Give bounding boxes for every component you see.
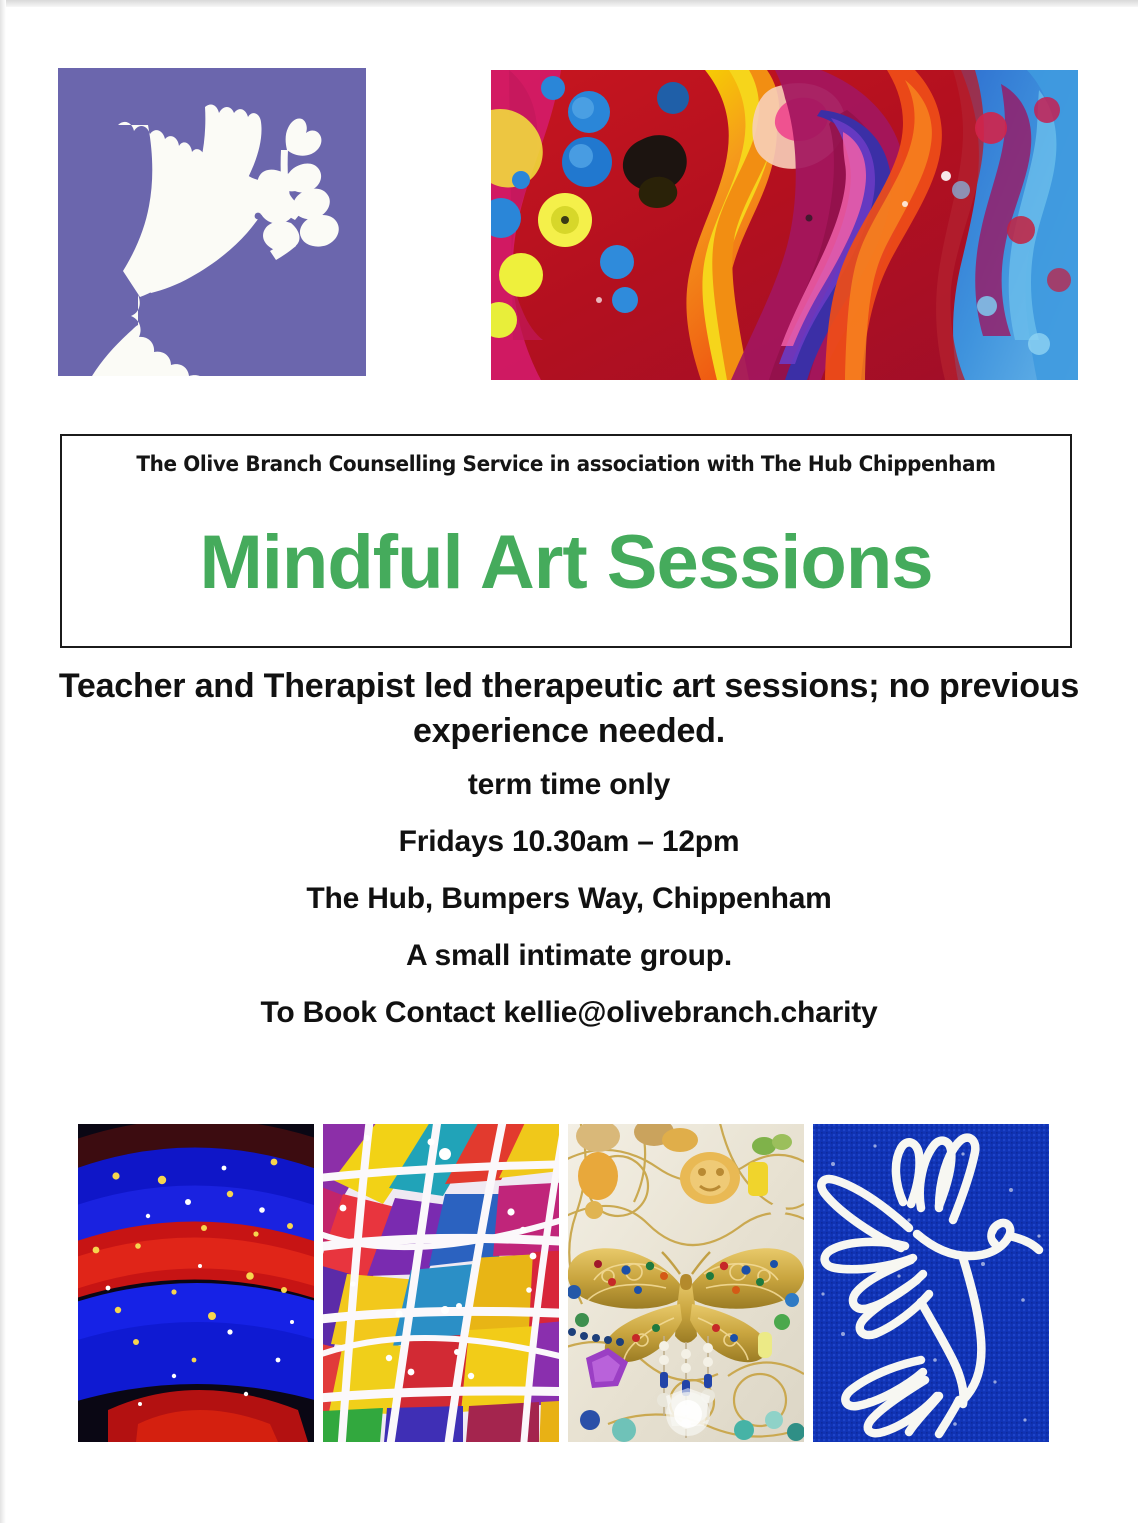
body-line-term-time: term time only — [10, 766, 1128, 804]
gold-filigree-butterfly — [568, 1124, 804, 1442]
association-line: The Olive Branch Counselling Service in … — [97, 452, 1034, 477]
page-left-edge — [0, 0, 6, 1523]
page-title: Mindful Art Sessions — [62, 520, 1070, 606]
olive-branch-dove-logo — [58, 68, 366, 376]
title-box: The Olive Branch Counselling Service in … — [60, 434, 1072, 648]
abstract-paint-pour-artwork — [491, 70, 1078, 380]
body-line-venue: The Hub, Bumpers Way, Chippenham — [10, 880, 1128, 918]
body-line-schedule: Fridays 10.30am – 12pm — [10, 823, 1128, 861]
white-dove-on-blue-painting — [813, 1124, 1049, 1442]
poster-page: The Olive Branch Counselling Service in … — [0, 0, 1138, 1523]
body-line-contact: To Book Contact kellie@olivebranch.chari… — [10, 994, 1128, 1032]
rainbow-silk-painting — [323, 1124, 559, 1442]
body-line-group-size: A small intimate group. — [10, 937, 1128, 975]
page-top-edge — [0, 0, 1138, 7]
red-blue-arcs-painting — [78, 1124, 314, 1442]
body-copy: Teacher and Therapist led therapeutic ar… — [10, 664, 1128, 1051]
body-line-description: Teacher and Therapist led therapeutic ar… — [10, 664, 1128, 754]
artwork-gallery — [78, 1124, 1060, 1442]
